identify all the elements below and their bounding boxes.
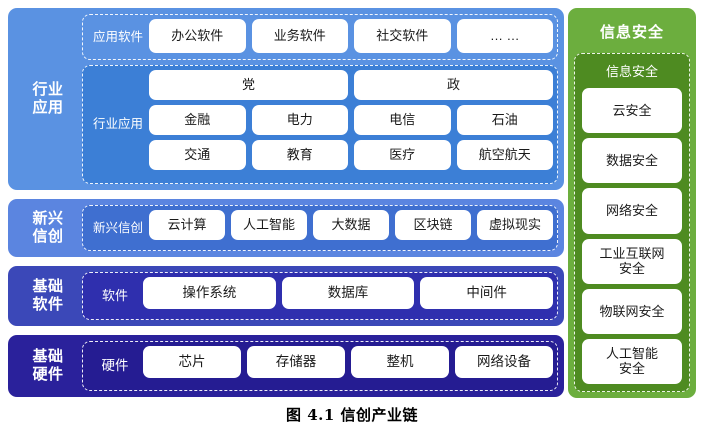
group-body-industry-application: 党 政 金融 电力 电信 石油 交通 教育 医疗 [149, 70, 553, 179]
group-industry-application: 行业应用 党 政 金融 电力 电信 石油 交通 [82, 65, 558, 184]
card-row: 芯片 存储器 整机 网络设备 [143, 346, 553, 386]
group-body-emerging-xinchuang: 云计算 人工智能 大数据 区块链 虚拟现实 [149, 210, 553, 246]
card-row: 党 政 [149, 70, 553, 100]
card-healthcare[interactable]: 医疗 [354, 140, 451, 170]
band-label-industry-application: 行业 应用 [14, 14, 82, 184]
card-database[interactable]: 数据库 [282, 277, 415, 309]
group-information-security: 信息安全 云安全 数据安全 网络安全 工业互联网 安全 物联网安全 人工智能 安… [574, 53, 690, 392]
card-operating-system[interactable]: 操作系统 [143, 277, 276, 309]
group-software: 软件 操作系统 数据库 中间件 [82, 272, 558, 320]
band-emerging-xinchuang: 新兴 信创 新兴信创 云计算 人工智能 大数据 区块链 虚拟现实 [8, 199, 564, 257]
card-party[interactable]: 党 [149, 70, 348, 100]
group-label-information-security: 信息安全 [582, 59, 682, 83]
group-hardware: 硬件 芯片 存储器 整机 网络设备 [82, 341, 558, 391]
layer-stack: 行业 应用 应用软件 办公软件 业务软件 社交软件 … … 行业应用 [8, 8, 564, 398]
band-label-basic-hardware: 基础 硬件 [14, 341, 82, 391]
card-ellipsis[interactable]: … … [457, 19, 554, 53]
group-body-application-software: 办公软件 业务软件 社交软件 … … [149, 19, 553, 55]
band-basic-hardware: 基础 硬件 硬件 芯片 存储器 整机 网络设备 [8, 335, 564, 397]
band-body-industry-application: 应用软件 办公软件 业务软件 社交软件 … … 行业应用 [82, 14, 558, 184]
group-label-emerging-xinchuang: 新兴信创 [87, 210, 149, 246]
card-row: 交通 教育 医疗 航空航天 [149, 140, 553, 170]
card-aerospace[interactable]: 航空航天 [457, 140, 554, 170]
card-iot-security[interactable]: 物联网安全 [582, 289, 682, 334]
band-label-basic-software: 基础 软件 [14, 272, 82, 320]
card-row: 金融 电力 电信 石油 [149, 105, 553, 135]
band-industry-application: 行业 应用 应用软件 办公软件 业务软件 社交软件 … … 行业应用 [8, 8, 564, 190]
card-cloud-computing[interactable]: 云计算 [149, 210, 225, 240]
band-label-emerging-xinchuang: 新兴 信创 [14, 205, 82, 251]
card-row: 办公软件 业务软件 社交软件 … … [149, 19, 553, 55]
card-telecom[interactable]: 电信 [354, 105, 451, 135]
card-whole-machine[interactable]: 整机 [351, 346, 449, 378]
card-blockchain[interactable]: 区块链 [395, 210, 471, 240]
card-finance[interactable]: 金融 [149, 105, 246, 135]
group-body-hardware: 芯片 存储器 整机 网络设备 [143, 346, 553, 386]
card-middleware[interactable]: 中间件 [420, 277, 553, 309]
figure-caption: 图 4.1 信创产业链 [0, 404, 704, 425]
card-office-software[interactable]: 办公软件 [149, 19, 246, 53]
card-artificial-intelligence[interactable]: 人工智能 [231, 210, 307, 240]
card-virtual-reality[interactable]: 虚拟现实 [477, 210, 553, 240]
card-power[interactable]: 电力 [252, 105, 349, 135]
group-body-software: 操作系统 数据库 中间件 [143, 277, 553, 315]
card-cloud-security[interactable]: 云安全 [582, 88, 682, 133]
group-label-hardware: 硬件 [87, 346, 143, 386]
card-petroleum[interactable]: 石油 [457, 105, 554, 135]
panel-information-security: 信息安全 信息安全 云安全 数据安全 网络安全 工业互联网 安全 物联网安全 人… [568, 8, 696, 398]
group-application-software: 应用软件 办公软件 业务软件 社交软件 … … [82, 14, 558, 60]
card-ai-security[interactable]: 人工智能 安全 [582, 339, 682, 384]
panel-title-information-security: 信息安全 [574, 14, 690, 48]
card-storage[interactable]: 存储器 [247, 346, 345, 378]
group-label-software: 软件 [87, 277, 143, 315]
card-government[interactable]: 政 [354, 70, 553, 100]
band-body-basic-software: 软件 操作系统 数据库 中间件 [82, 272, 558, 320]
card-chip[interactable]: 芯片 [143, 346, 241, 378]
card-social-software[interactable]: 社交软件 [354, 19, 451, 53]
card-data-security[interactable]: 数据安全 [582, 138, 682, 183]
card-row: 云计算 人工智能 大数据 区块链 虚拟现实 [149, 210, 553, 246]
band-body-basic-hardware: 硬件 芯片 存储器 整机 网络设备 [82, 341, 558, 391]
card-network-security[interactable]: 网络安全 [582, 188, 682, 233]
card-big-data[interactable]: 大数据 [313, 210, 389, 240]
group-label-application-software: 应用软件 [87, 19, 149, 55]
card-industrial-internet-security[interactable]: 工业互联网 安全 [582, 239, 682, 284]
card-network-equipment[interactable]: 网络设备 [455, 346, 553, 378]
card-transportation[interactable]: 交通 [149, 140, 246, 170]
group-emerging-xinchuang: 新兴信创 云计算 人工智能 大数据 区块链 虚拟现实 [82, 205, 558, 251]
band-basic-software: 基础 软件 软件 操作系统 数据库 中间件 [8, 266, 564, 326]
card-education[interactable]: 教育 [252, 140, 349, 170]
card-business-software[interactable]: 业务软件 [252, 19, 349, 53]
group-label-industry-application: 行业应用 [87, 70, 149, 179]
card-row: 操作系统 数据库 中间件 [143, 277, 553, 315]
band-body-emerging-xinchuang: 新兴信创 云计算 人工智能 大数据 区块链 虚拟现实 [82, 205, 558, 251]
industry-chain-diagram: 行业 应用 应用软件 办公软件 业务软件 社交软件 … … 行业应用 [0, 0, 704, 436]
